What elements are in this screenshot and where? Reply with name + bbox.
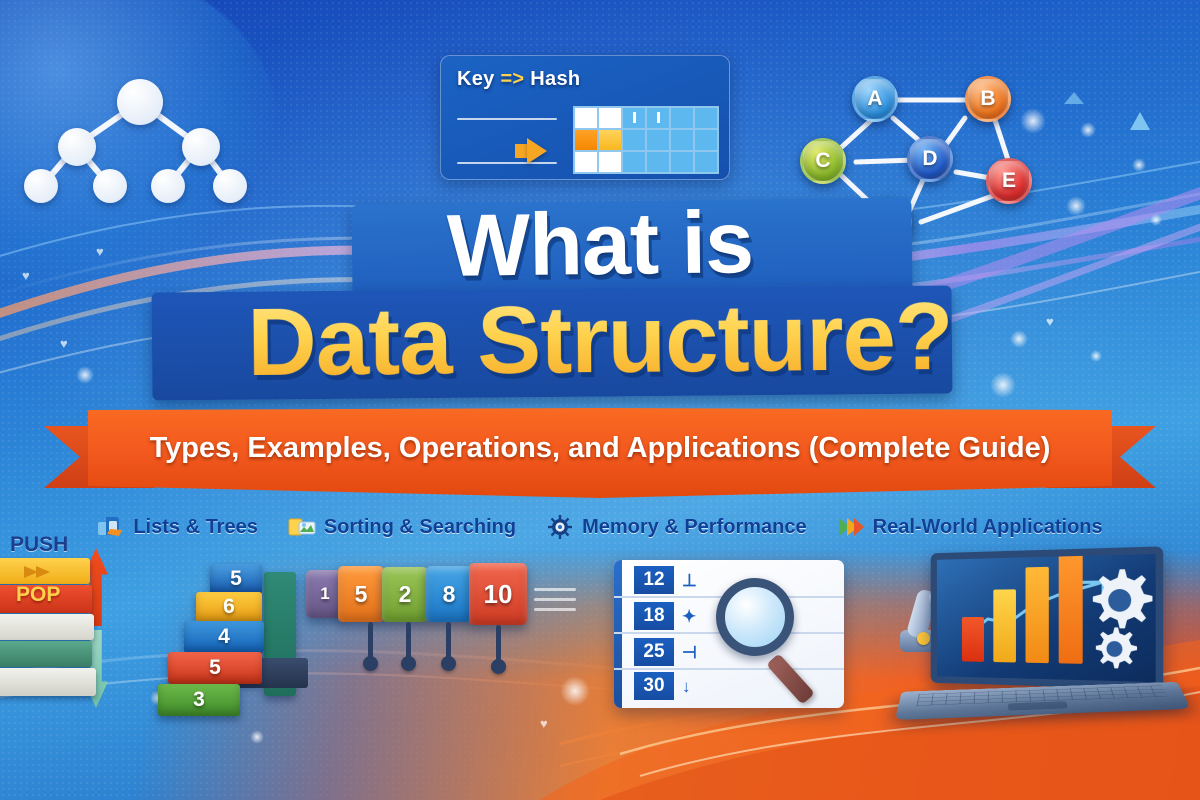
table-row: 25 (634, 638, 674, 666)
row-glyph-icon: ↓ (682, 677, 691, 697)
linked-list-illustration: 1 5 2 8 10 (306, 570, 566, 680)
bokeh-dot (560, 676, 590, 706)
hash-cell (670, 151, 694, 173)
lists-trees-icon (97, 514, 125, 540)
stack-block-value: 5 (209, 656, 221, 680)
hash-cell (598, 107, 622, 129)
list-node-value: 8 (443, 581, 456, 608)
stack-block: 3 (158, 684, 240, 716)
list-pointer-dot (491, 659, 506, 674)
binary-tree-illustration (12, 60, 262, 220)
hash-panel-title: Key => Hash (457, 68, 580, 91)
laptop-trackpad (1008, 701, 1068, 710)
list-pointer-dot (441, 656, 456, 671)
pop-label: POP (16, 583, 60, 607)
hash-cell (646, 107, 670, 129)
list-pointer-stem (496, 625, 501, 661)
chart-bar (962, 617, 984, 662)
row-glyph-icon: ✦ (682, 607, 696, 627)
hash-cell-filled (574, 129, 598, 151)
list-node: 2 (382, 567, 428, 622)
hash-cell (622, 107, 646, 129)
feature-sorting-searching[interactable]: Sorting & Searching (288, 514, 516, 540)
list-rail (534, 588, 576, 591)
feature-memory-performance[interactable]: Memory & Performance (546, 514, 807, 540)
subtitle-ribbon: Types, Examples, Operations, and Applica… (0, 408, 1200, 504)
hash-arrow-icon (527, 138, 547, 164)
table-cell-key: 30 (643, 675, 664, 697)
row-glyph-icon: ⊣ (682, 643, 697, 663)
subtitle-text: Types, Examples, Operations, and Applica… (0, 432, 1200, 465)
stack-block: 5 (168, 652, 262, 684)
list-node: 8 (426, 566, 472, 622)
feature-row: Lists & Trees Sorting & Searching (0, 506, 1200, 548)
list-node-value: 10 (484, 579, 513, 610)
page-title-line2: Data Structure? (0, 280, 1200, 400)
stack-block-value: 4 (218, 625, 230, 649)
hash-cell (670, 129, 694, 151)
hash-cell (574, 107, 598, 129)
list-rail (534, 598, 576, 601)
feature-real-world-applications[interactable]: Real-World Applications (837, 514, 1103, 540)
stack-block: 5 (210, 564, 262, 594)
card-left-edge (614, 560, 622, 708)
chart-bar (993, 589, 1016, 662)
stack-block-value: 3 (193, 688, 205, 712)
book (0, 668, 96, 696)
tree-node (182, 128, 220, 166)
feature-label: Lists & Trees (133, 516, 258, 539)
feature-label: Memory & Performance (582, 516, 807, 539)
sorting-searching-icon (288, 514, 316, 540)
list-pointer-stem (368, 622, 373, 658)
table-cell-key: 18 (643, 605, 664, 627)
stack-block-value: 5 (230, 567, 242, 591)
hash-cell (694, 107, 718, 129)
tree-node-leaf (24, 169, 58, 203)
list-rail (534, 608, 576, 611)
hash-cell-filled (598, 129, 622, 151)
search-icon (716, 578, 794, 656)
hash-input-line (457, 118, 557, 120)
table-row: 18 (634, 602, 674, 630)
laptop-illustration (900, 548, 1200, 738)
feature-lists-trees[interactable]: Lists & Trees (97, 514, 258, 540)
list-pointer-stem (406, 622, 411, 658)
tree-node-root (117, 79, 163, 125)
list-node-value: 1 (320, 584, 329, 604)
list-node: 10 (469, 563, 527, 625)
list-pointer-dot (363, 656, 378, 671)
bokeh-dot (1080, 122, 1096, 138)
book-stack-illustration (0, 548, 136, 728)
list-node-value: 2 (399, 581, 412, 608)
list-node: 5 (338, 566, 384, 622)
graph-node-label: A (867, 87, 882, 111)
hash-key-label: Key (457, 68, 495, 90)
memory-performance-icon (546, 514, 574, 540)
table-cell-key: 25 (643, 641, 664, 663)
stack-block-value: 6 (223, 595, 235, 619)
graph-node-label: B (980, 87, 995, 111)
stack-blocks-illustration: 5 6 4 5 3 (160, 558, 310, 718)
hash-table-panel: Key => Hash (440, 55, 730, 180)
laptop-screen (931, 546, 1164, 689)
bokeh-dot (1132, 158, 1146, 172)
robot-joint (917, 632, 930, 645)
graph-node-c: C (800, 138, 846, 184)
poster-canvas: ♥ ♥ ♥ ♥ ♥ ♥ Key => (0, 0, 1200, 800)
hash-cell (694, 129, 718, 151)
hash-cell (598, 151, 622, 173)
magnifier-handle (766, 653, 815, 705)
chart-bar (1026, 567, 1049, 663)
table-row: 12 (634, 566, 674, 594)
feature-label: Sorting & Searching (324, 516, 516, 539)
chart-bar (1059, 546, 1083, 664)
hash-bucket-grid (573, 106, 719, 174)
book (0, 614, 94, 640)
hash-cell (574, 151, 598, 173)
graph-node-label: C (815, 149, 830, 173)
table-cell-key: 12 (643, 569, 664, 591)
tree-node (58, 128, 96, 166)
graph-node-label: D (922, 147, 937, 171)
hash-hash-label: Hash (530, 68, 580, 90)
graph-node-a: A (852, 76, 898, 122)
table-row: 30 (634, 672, 674, 700)
list-node-value: 5 (355, 581, 368, 608)
real-world-applications-icon (837, 514, 865, 540)
feature-label: Real-World Applications (873, 516, 1103, 539)
stack-block: 6 (196, 592, 262, 622)
hash-cell (622, 129, 646, 151)
row-glyph-icon: ⊥ (682, 571, 697, 591)
search-table-card: 12 ⊥ 18 ✦ 25 ⊣ 30 ↓ (614, 560, 844, 708)
gear-icon (1089, 623, 1141, 675)
book (0, 641, 92, 667)
graph-node-d1: D (907, 136, 953, 182)
hash-cell (646, 129, 670, 151)
list-pointer-stem (446, 622, 451, 658)
hash-cell (646, 151, 670, 173)
stack-block: 4 (184, 621, 264, 653)
hash-arrow-label: => (500, 68, 524, 90)
bokeh-dot (250, 730, 264, 744)
table-divider (614, 668, 844, 670)
hash-cell (622, 151, 646, 173)
book-arrow-glyph (22, 564, 56, 580)
list-pointer-dot (401, 656, 416, 671)
hash-cell (694, 151, 718, 173)
hash-cell (670, 107, 694, 129)
heart-sparkle: ♥ (540, 716, 548, 731)
laptop-keyboard (895, 682, 1191, 720)
graph-node-b: B (965, 76, 1011, 122)
